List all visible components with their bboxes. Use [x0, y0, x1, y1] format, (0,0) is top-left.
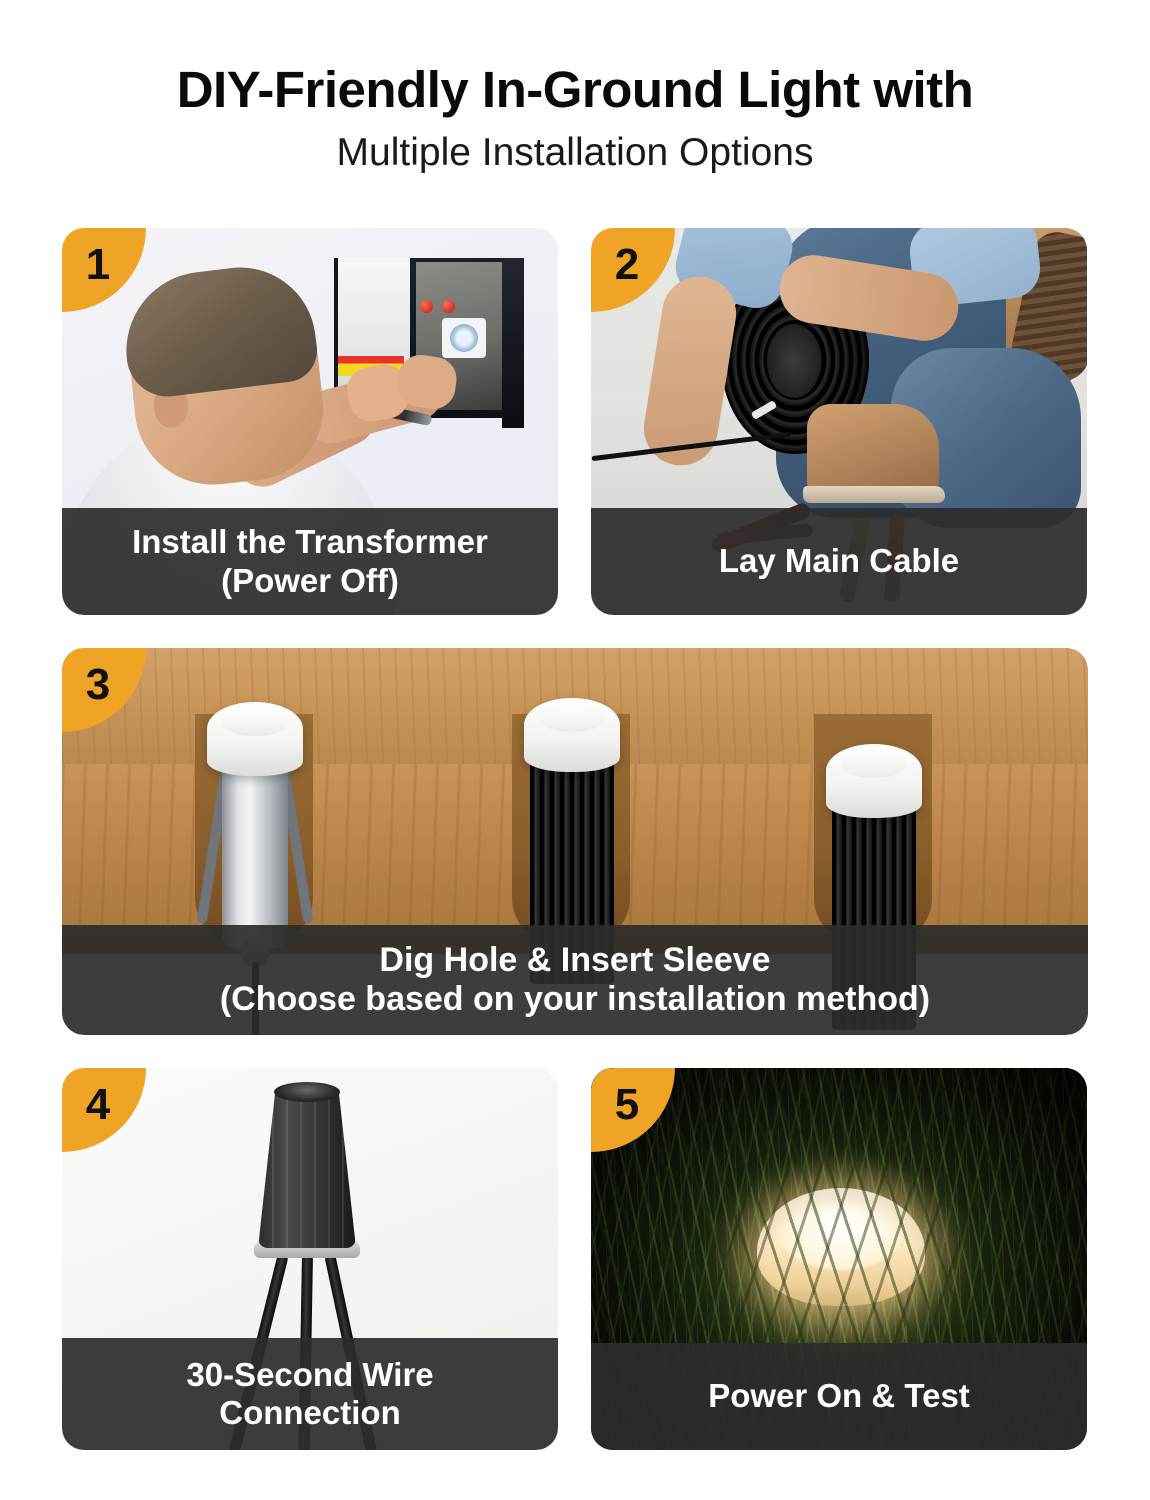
fixture-frosted-lens-icon: [524, 698, 620, 772]
fixture-frosted-lens-icon: [207, 702, 303, 776]
step-caption-3-line1: Dig Hole & Insert Sleeve: [220, 941, 930, 980]
step-caption-5-line1: Power On & Test: [708, 1377, 970, 1415]
timer-dial-icon: [442, 318, 486, 358]
step-caption-5: Power On & Test: [591, 1343, 1087, 1450]
step-number-5: 5: [615, 1083, 639, 1127]
step-caption-4-line1: 30-Second Wire: [186, 1356, 433, 1394]
step-card-1[interactable]: 1 Install the Transformer (Power Off): [62, 228, 558, 615]
steps-row-3: 4 30-Second Wire Connection 5: [62, 1068, 1088, 1450]
step-number-2: 2: [615, 243, 639, 287]
step-caption-2-line1: Lay Main Cable: [719, 542, 959, 580]
page-title: DIY-Friendly In-Ground Light with: [0, 62, 1150, 118]
step-card-2[interactable]: 2 Lay Main Cable: [591, 228, 1087, 615]
step-caption-3-line2: (Choose based on your installation metho…: [220, 980, 930, 1019]
step-card-4[interactable]: 4 30-Second Wire Connection: [62, 1068, 558, 1450]
wire-nut-body-icon: [258, 1088, 356, 1248]
step-number-4: 4: [86, 1083, 110, 1127]
page-header: DIY-Friendly In-Ground Light with Multip…: [0, 0, 1150, 175]
cable-coil-center-icon: [767, 324, 821, 398]
step-caption-4-line2: Connection: [186, 1394, 433, 1432]
step-caption-1: Install the Transformer (Power Off): [62, 508, 558, 615]
step-caption-4: 30-Second Wire Connection: [62, 1338, 558, 1450]
step-caption-2: Lay Main Cable: [591, 508, 1087, 615]
work-boot-front-sole-icon: [803, 486, 945, 503]
step-number-3: 3: [86, 663, 110, 707]
transformer-side-panel-icon: [502, 258, 524, 428]
fixture-frosted-lens-icon: [826, 744, 922, 818]
transformer-button-red-2-icon: [442, 300, 455, 313]
step-card-5[interactable]: 5 Power On & Test: [591, 1068, 1087, 1450]
steps-row-1: 1 Install the Transformer (Power Off): [62, 228, 1088, 615]
page-subtitle: Multiple Installation Options: [0, 132, 1150, 175]
fixture-steel-body-icon: [222, 758, 287, 948]
step-caption-3: Dig Hole & Insert Sleeve (Choose based o…: [62, 925, 1088, 1035]
steps-grid: 1 Install the Transformer (Power Off): [62, 228, 1088, 1483]
steps-row-2: 3 Dig Hole & Insert Sleeve (Choose based…: [62, 648, 1088, 1035]
wire-nut-top-icon: [274, 1082, 340, 1102]
step-card-3[interactable]: 3 Dig Hole & Insert Sleeve (Choose based…: [62, 648, 1088, 1035]
step-caption-1-line1: Install the Transformer: [132, 523, 488, 561]
step-number-1: 1: [86, 243, 110, 287]
technician-hair-icon: [117, 259, 320, 401]
transformer-button-red-1-icon: [420, 300, 433, 313]
step-caption-1-line2: (Power Off): [132, 562, 488, 600]
